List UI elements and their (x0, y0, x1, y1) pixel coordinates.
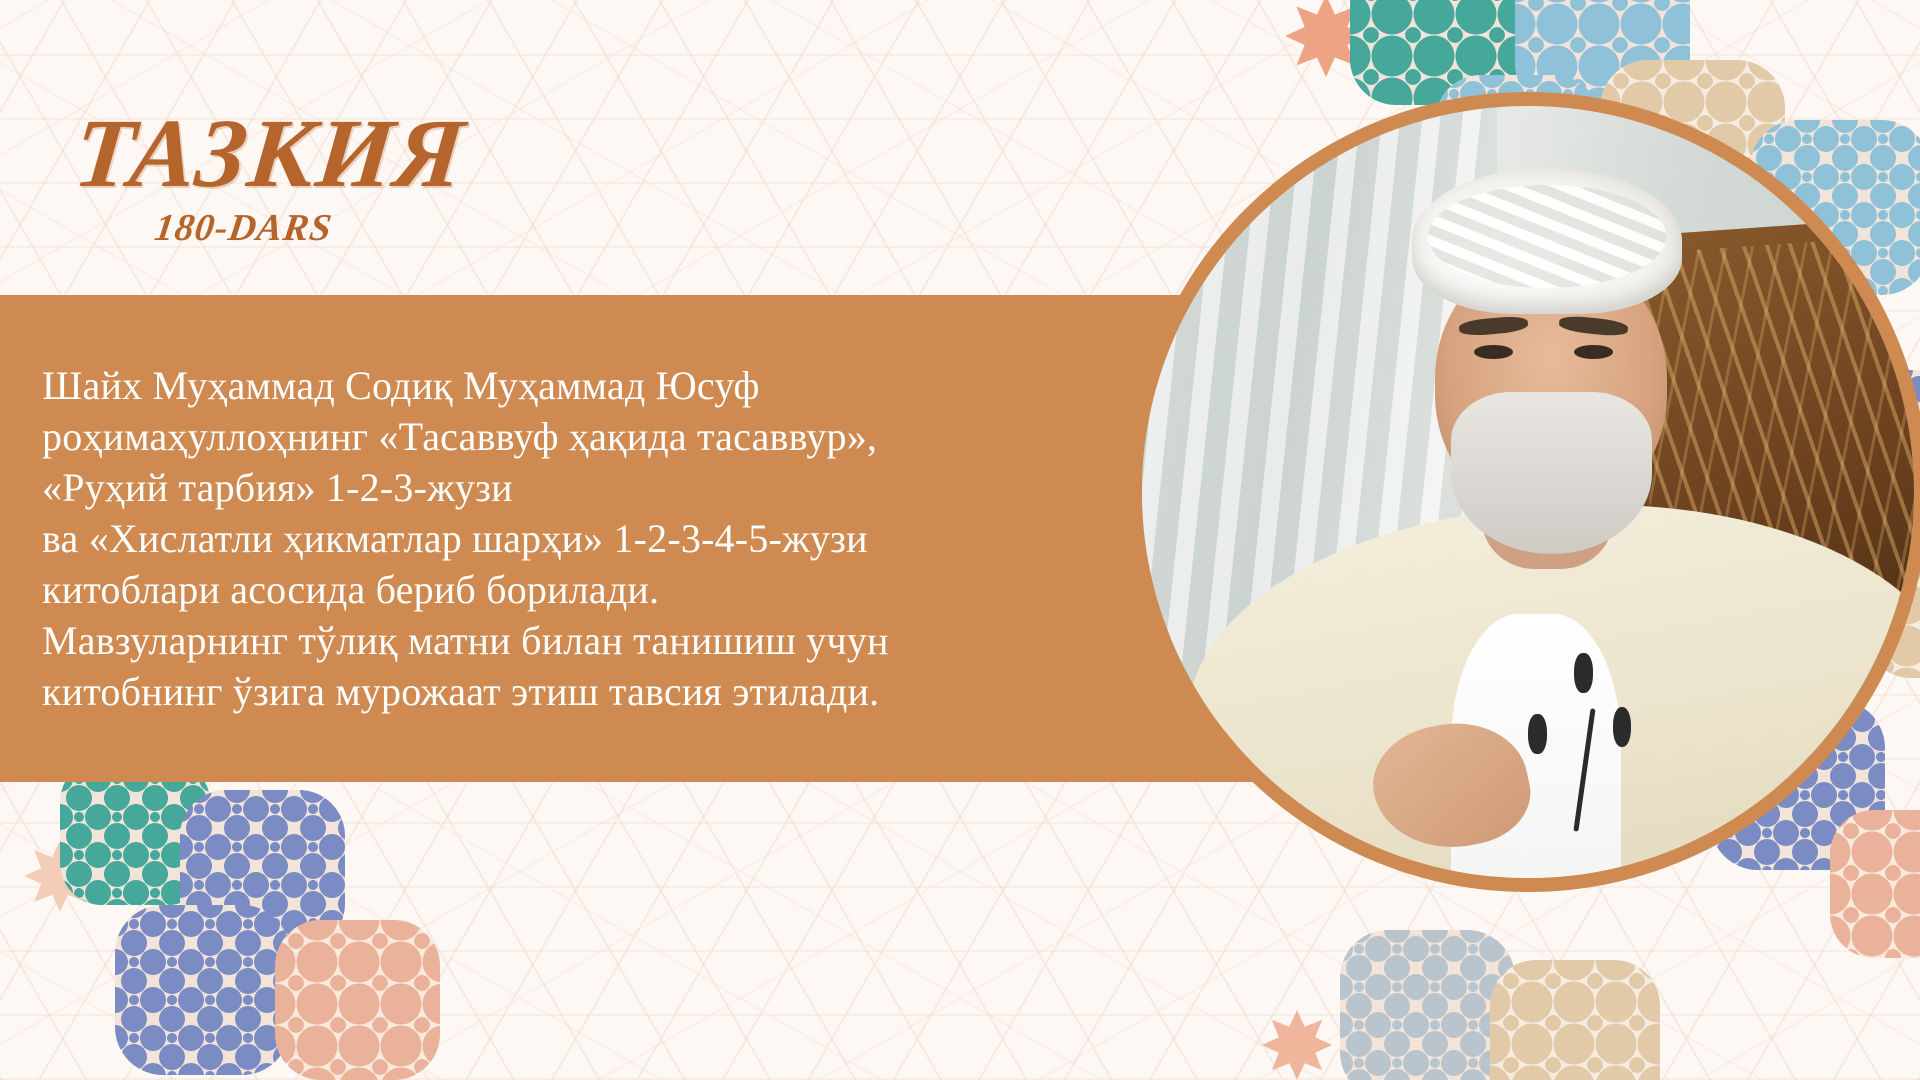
ornament-cluster-bottom-left (30, 790, 460, 1080)
lesson-number-label: 180-DARS (152, 209, 467, 247)
portrait-ring (1128, 92, 1920, 892)
photo-lapel-microphone-3 (1613, 707, 1632, 747)
ornament-tile-pink (275, 920, 440, 1080)
slide-canvas: ТАЗКИЯ 180-DARS Шайх Муҳаммад Содиқ Муҳа… (0, 0, 1920, 1080)
portrait-photo (1142, 106, 1914, 878)
ornament-tile-blue-5 (115, 905, 290, 1075)
photo-lapel-microphone-2 (1528, 714, 1547, 754)
photo-eye-left (1474, 345, 1513, 359)
photo-beard (1451, 392, 1652, 554)
photo-lapel-microphone-1 (1574, 653, 1593, 693)
description-text: Шайх Муҳаммад Содиқ Муҳаммад Юсуф роҳима… (42, 360, 1162, 717)
ornament-tile-grey-2 (1340, 930, 1515, 1080)
page-title: ТАЗКИЯ (70, 105, 470, 203)
star-icon-bottom-center (1262, 1010, 1332, 1080)
photo-turban (1412, 168, 1682, 315)
ornament-tile-sand-2 (1490, 960, 1660, 1080)
brand-logo: ТАЗКИЯ 180-DARS (75, 105, 465, 247)
